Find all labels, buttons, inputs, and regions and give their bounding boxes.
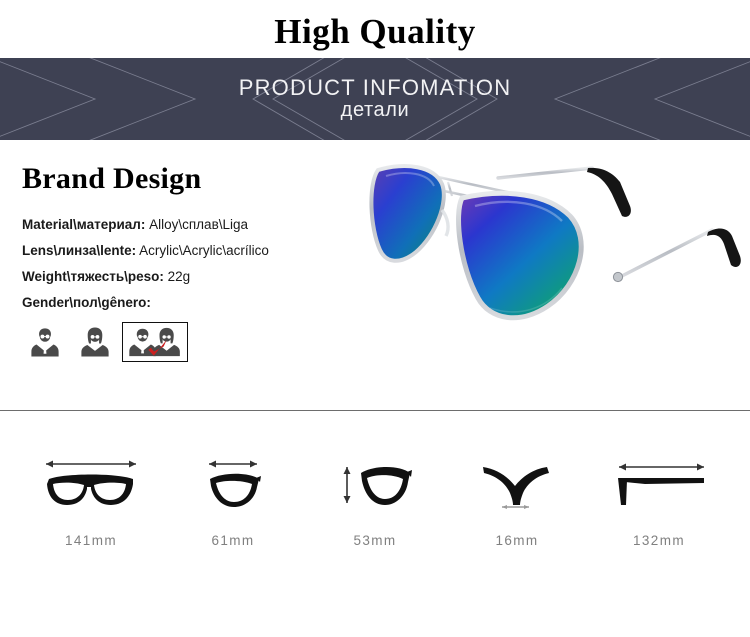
dimension-art <box>321 453 429 515</box>
banner-title: PRODUCT INFOMATION <box>239 76 512 99</box>
dimension-label: 132mm <box>633 533 685 548</box>
woman-icon <box>78 325 112 359</box>
dimension-art <box>37 453 145 515</box>
spec-value: 22g <box>168 269 191 284</box>
full-frame-front-icon <box>37 453 145 515</box>
dimension-art <box>179 453 287 515</box>
spec-label: Material\материал: <box>22 217 145 232</box>
spec-value: Alloy\сплав\Liga <box>149 217 248 232</box>
spec-label: Lens\линза\lente: <box>22 243 136 258</box>
dimension-art <box>605 453 713 515</box>
banner-subtitle: детали <box>341 99 410 122</box>
dimensions-section: 141mm 61mm <box>0 411 750 548</box>
spec-label: Gender\пол\gênero: <box>22 295 151 310</box>
spec-value: Acrylic\Acrylic\acrílico <box>139 243 269 258</box>
dimension-label: 53mm <box>353 533 396 548</box>
gender-option-men[interactable] <box>22 322 68 362</box>
single-lens-width-icon <box>179 453 287 515</box>
bridge-icon <box>463 453 571 515</box>
man-woman-icon <box>126 325 184 359</box>
dimension-item-lens-width: 61mm <box>168 453 298 548</box>
dimension-item-lens-height: 53mm <box>310 453 440 548</box>
dimension-label: 141mm <box>65 533 117 548</box>
dimension-art <box>463 453 571 515</box>
section-banner: PRODUCT INFOMATION детали <box>0 58 750 140</box>
single-lens-height-icon <box>321 453 429 515</box>
dimension-label: 61mm <box>211 533 254 548</box>
dimension-item-bridge-width: 16mm <box>452 453 582 548</box>
man-icon <box>28 325 62 359</box>
dimension-item-temple-length: 132mm <box>594 453 724 548</box>
spec-label: Weight\тяжесть\peso: <box>22 269 164 284</box>
product-info-section: Brand Design Material\материал: Alloy\сп… <box>0 140 750 410</box>
page-title: High Quality <box>0 0 750 58</box>
product-image-sunglasses <box>330 132 750 402</box>
temple-arm-icon <box>605 453 713 515</box>
gender-option-unisex[interactable] <box>122 322 188 362</box>
gender-option-women[interactable] <box>72 322 118 362</box>
dimension-label: 16mm <box>495 533 538 548</box>
dimension-item-total-width: 141mm <box>26 453 156 548</box>
